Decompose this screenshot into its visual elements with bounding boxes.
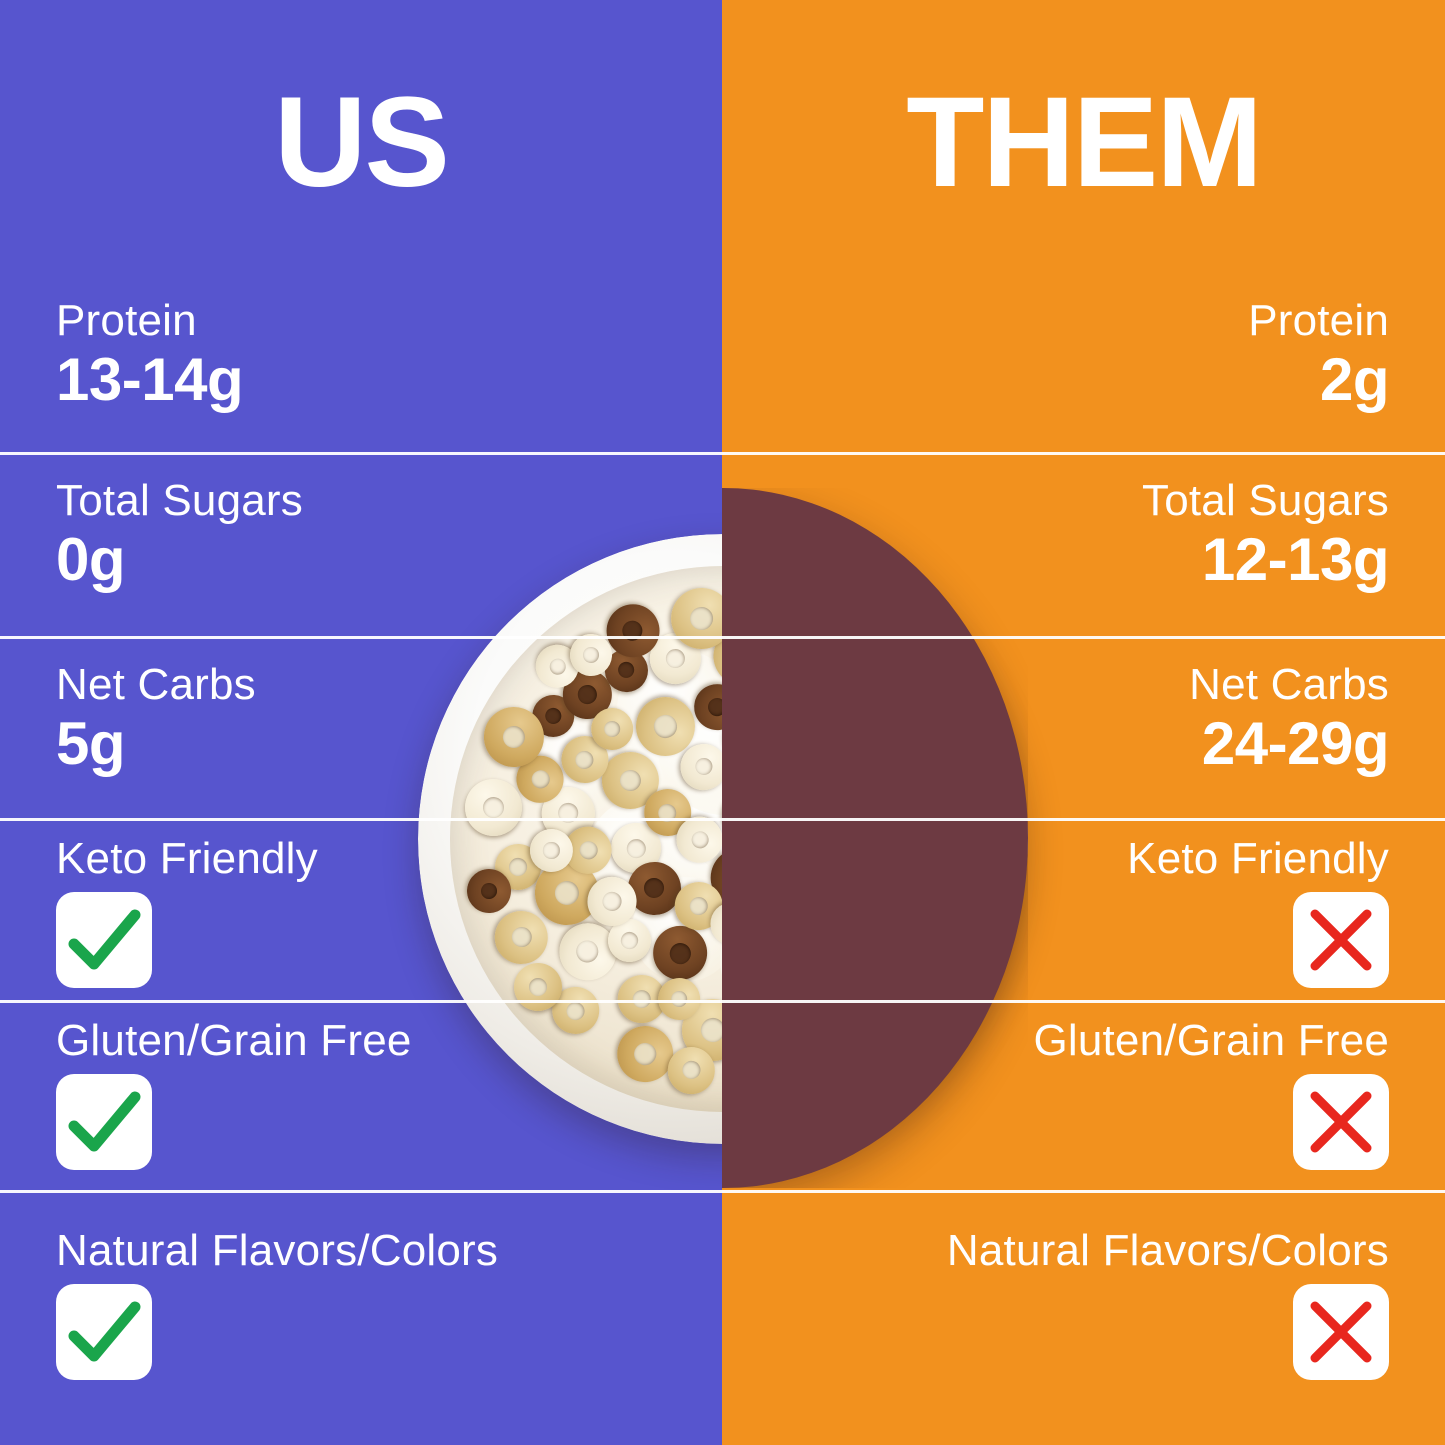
comparison-infographic: US THEM Protein 13-14g Total Sugars 0g N…	[0, 0, 1445, 1445]
them-natural-flavors-colors-label: Natural Flavors/Colors	[947, 1228, 1389, 1274]
us-keto-friendly-label: Keto Friendly	[56, 836, 318, 882]
us-total-sugars-label: Total Sugars	[56, 478, 303, 524]
us-total-sugars-value: 0g	[56, 528, 303, 591]
cross-icon	[1293, 1284, 1389, 1380]
row-divider-4-right	[722, 1000, 1445, 1003]
us-protein-value: 13-14g	[56, 348, 243, 411]
them-row-protein: Protein 2g	[1248, 298, 1389, 411]
row-divider-3-left	[0, 818, 722, 821]
them-net-carbs-label: Net Carbs	[1189, 662, 1389, 708]
us-row-total-sugars: Total Sugars 0g	[56, 478, 303, 591]
row-divider-5-right	[722, 1190, 1445, 1193]
check-icon	[56, 1074, 152, 1170]
them-keto-friendly-label: Keto Friendly	[1127, 836, 1389, 882]
them-net-carbs-value: 24-29g	[1189, 712, 1389, 775]
them-total-sugars-label: Total Sugars	[1142, 478, 1389, 524]
them-row-gluten-grain-free: Gluten/Grain Free	[1033, 1018, 1389, 1170]
cross-icon	[1293, 892, 1389, 988]
row-divider-1-left	[0, 452, 722, 455]
us-row-natural-flavors-colors: Natural Flavors/Colors	[56, 1228, 498, 1380]
us-row-keto-friendly: Keto Friendly	[56, 836, 318, 988]
us-row-gluten-grain-free: Gluten/Grain Free	[56, 1018, 412, 1170]
them-row-keto-friendly: Keto Friendly	[1127, 836, 1389, 988]
them-header: THEM	[722, 78, 1445, 209]
us-net-carbs-value: 5g	[56, 712, 256, 775]
them-row-natural-flavors-colors: Natural Flavors/Colors	[947, 1228, 1389, 1380]
row-divider-2-right	[722, 636, 1445, 639]
check-icon	[56, 892, 152, 988]
us-net-carbs-label: Net Carbs	[56, 662, 256, 708]
them-protein-label: Protein	[1248, 298, 1389, 344]
header-row: US THEM	[0, 0, 1445, 290]
them-total-sugars-value: 12-13g	[1142, 528, 1389, 591]
us-row-net-carbs: Net Carbs 5g	[56, 662, 256, 775]
them-row-net-carbs: Net Carbs 24-29g	[1189, 662, 1389, 775]
row-divider-3-right	[722, 818, 1445, 821]
cross-icon	[1293, 1074, 1389, 1170]
row-divider-5-left	[0, 1190, 722, 1193]
row-divider-4-left	[0, 1000, 722, 1003]
us-natural-flavors-colors-label: Natural Flavors/Colors	[56, 1228, 498, 1274]
them-row-total-sugars: Total Sugars 12-13g	[1142, 478, 1389, 591]
row-divider-1-right	[722, 452, 1445, 455]
check-icon	[56, 1284, 152, 1380]
row-divider-2-left	[0, 636, 722, 639]
us-protein-label: Protein	[56, 298, 243, 344]
them-gluten-grain-free-label: Gluten/Grain Free	[1033, 1018, 1389, 1064]
us-row-protein: Protein 13-14g	[56, 298, 243, 411]
us-header: US	[0, 78, 722, 209]
us-gluten-grain-free-label: Gluten/Grain Free	[56, 1018, 412, 1064]
them-protein-value: 2g	[1248, 348, 1389, 411]
